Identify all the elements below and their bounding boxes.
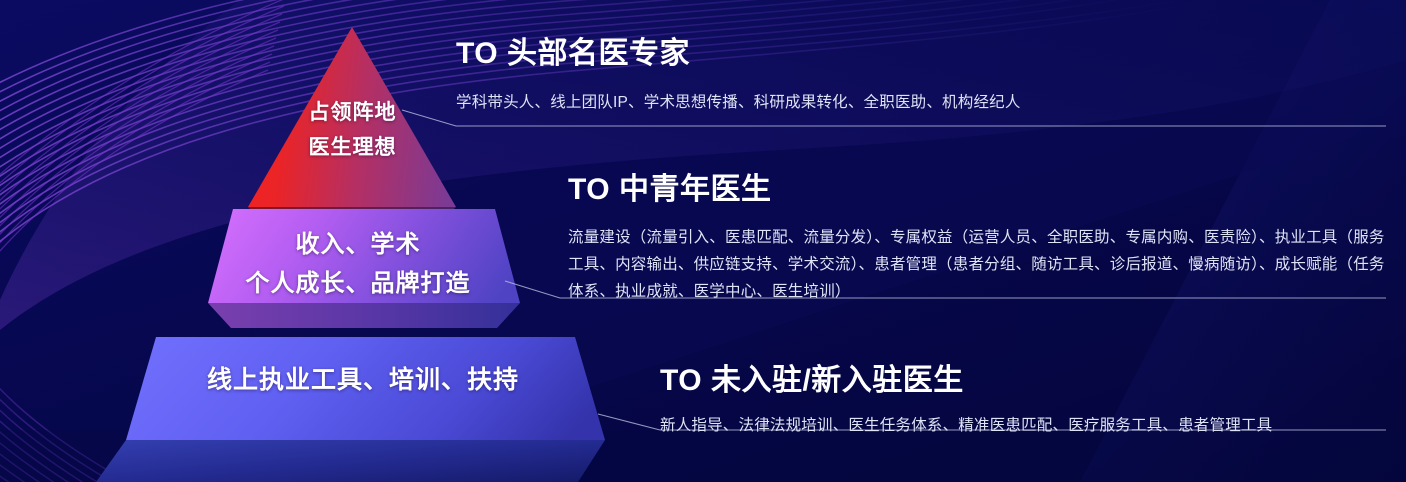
tier-3-line-1: 线上执业工具、培训、扶持 xyxy=(0,363,726,397)
pyramid-tier-3[interactable] xyxy=(96,337,605,482)
segment-bottom: TO 未入驻/新入驻医生 新人指导、法律法规培训、医生任务体系、精准医患匹配、医… xyxy=(660,355,1390,439)
segment-top: TO 头部名医专家 学科带头人、线上团队IP、学术思想传播、科研成果转化、全职医… xyxy=(456,28,1386,116)
segment-middle: TO 中青年医生 流量建设（流量引入、医患匹配、流量分发）、专属权益（运营人员、… xyxy=(568,164,1398,305)
segment-top-description: 学科带头人、线上团队IP、学术思想传播、科研成果转化、全职医助、机构经纪人 xyxy=(456,89,1386,116)
infographic-slide: 占领阵地 医生理想 收入、学术 个人成长、品牌打造 线上执业工具、培训、扶持 T… xyxy=(0,0,1406,482)
tier-1-line-2: 医生理想 xyxy=(0,130,705,165)
segment-bottom-description: 新人指导、法律法规培训、医生任务体系、精准医患匹配、医疗服务工具、患者管理工具 xyxy=(660,412,1390,439)
segment-middle-description: 流量建设（流量引入、医患匹配、流量分发）、专属权益（运营人员、全职医助、专属内购… xyxy=(568,224,1398,305)
segment-bottom-heading: TO 未入驻/新入驻医生 xyxy=(660,355,1390,399)
pyramid-tier-3-label: 线上执业工具、培训、扶持 xyxy=(0,363,726,397)
segment-middle-heading: TO 中青年医生 xyxy=(568,164,1398,208)
segment-top-heading: TO 头部名医专家 xyxy=(456,28,1386,72)
